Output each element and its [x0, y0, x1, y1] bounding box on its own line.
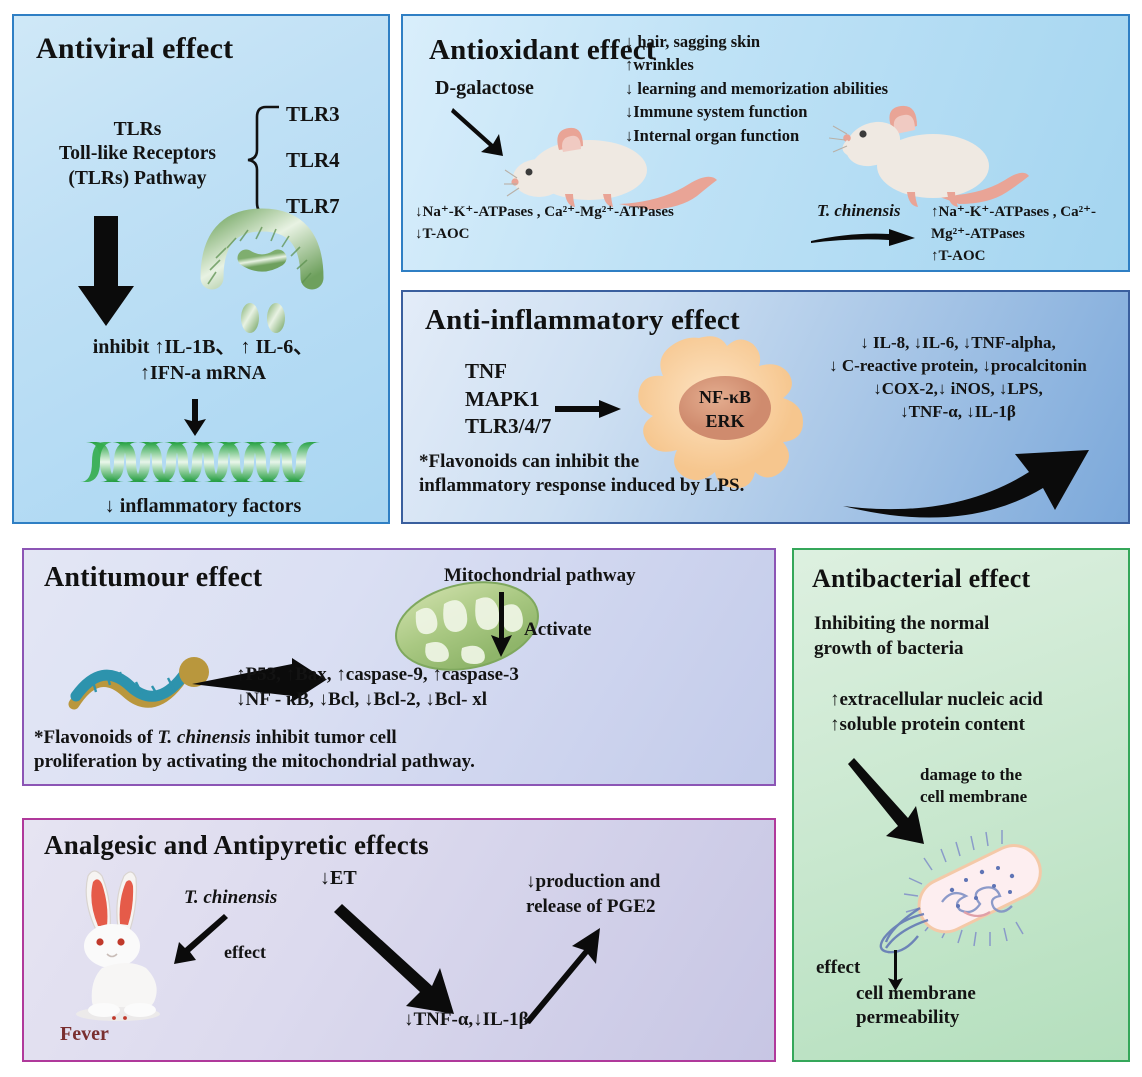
tlr-pathway-line2: Toll-like Receptors — [30, 142, 245, 166]
panel-anti-inflammatory-effect: Anti-inflammatory effect TNF MAPK1 TLR3/… — [401, 290, 1130, 524]
antioxidant-treatment-label: T. chinensis — [817, 201, 900, 222]
effect-arrow-icon — [174, 916, 230, 968]
activate-label: Activate — [524, 618, 592, 641]
panel-antitumour-effect: Antitumour effect — [22, 548, 776, 786]
stimulus-0: TNF — [465, 358, 551, 386]
note-text-a: *Flavonoids of — [34, 727, 158, 748]
rabbit-illustration — [62, 868, 192, 1026]
aging-sign-2: ↓ learning and memorization abilities — [625, 77, 888, 100]
marker-3: ↓TNF-α, ↓IL-1β — [793, 401, 1123, 424]
note-text-b: inhibit tumor cell — [251, 727, 397, 748]
aging-sign-0: ↓ hair, sagging skin — [625, 30, 888, 53]
pge2-label: ↓production and release of PGE2 — [526, 870, 660, 919]
note-line-1: *Flavonoids can inhibit the — [419, 450, 744, 474]
stimuli-arrow-icon — [555, 398, 623, 420]
analgesic-title: Analgesic and Antipyretic effects — [44, 830, 429, 861]
pge2-line-1: ↓production and — [526, 870, 660, 895]
antioxidant-aging-signs: ↓ hair, sagging skin ↑wrinkles ↓ learnin… — [625, 30, 888, 147]
d-galactose-label: D-galactose — [435, 76, 534, 100]
fever-label: Fever — [60, 1022, 109, 1046]
analgesic-species-label: T. chinensis — [184, 886, 277, 909]
diagonal-up-arrow-icon — [518, 928, 608, 1024]
anti-inflammatory-note: *Flavonoids can inhibit the inflammatory… — [419, 450, 744, 498]
antitumour-note: *Flavonoids of T. chinensis inhibit tumo… — [34, 726, 475, 774]
antitumour-title: Antitumour effect — [44, 562, 262, 594]
tlr-pathway-line1: TLRs — [30, 118, 245, 142]
inhibit-line-1: inhibit ↑IL-1B、 ↑ IL-6、 — [28, 334, 378, 360]
down-arrow-icon — [76, 216, 136, 328]
antitumour-note-line-1: *Flavonoids of T. chinensis inhibit tumo… — [34, 726, 475, 750]
permeability-line-1: cell membrane — [856, 982, 976, 1006]
after-line-1: ↑Na⁺-K⁺-ATPases , Ca²⁺-Mg²⁺-ATPases — [931, 202, 1128, 246]
marker-1: ↓ C-reactive protein, ↓procalcitonin — [793, 355, 1123, 378]
antiviral-inhibit-text: inhibit ↑IL-1B、 ↑ IL-6、 ↑IFN-a mRNA — [28, 334, 378, 386]
tlr-receptor-0: TLR3 — [286, 104, 340, 125]
panel-antiviral-effect: Antiviral effect TLRs Toll-like Receptor… — [12, 14, 390, 524]
aging-sign-4: ↓Internal organ function — [625, 124, 888, 147]
d-galactose-arrow-icon — [451, 106, 511, 158]
tlr-group: TLRs Toll-like Receptors (TLRs) Pathway … — [24, 104, 384, 219]
increase-line-1: ↑extracellular nucleic acid — [830, 688, 1043, 713]
antioxidant-before-values: ↓Na⁺-K⁺-ATPases , Ca²⁺-Mg²⁺-ATPases ↓T-A… — [415, 202, 674, 246]
before-line-1: ↓Na⁺-K⁺-ATPases , Ca²⁺-Mg²⁺-ATPases — [415, 202, 674, 224]
tumour-marker-line-1: ↑P53, ↑Bax, ↑caspase-9, ↑caspase-3 — [236, 662, 519, 687]
antibacterial-permeability-label: cell membrane permeability — [856, 982, 976, 1031]
inflammatory-stimuli-list: TNF MAPK1 TLR3/4/7 — [465, 358, 551, 441]
tlr-pathway-label: TLRs Toll-like Receptors (TLRs) Pathway — [30, 118, 245, 191]
tumour-marker-line-2: ↓NF - κB, ↓Bcl, ↓Bcl-2, ↓Bcl- xl — [236, 687, 519, 712]
curly-brace-icon — [246, 104, 280, 216]
marker-2: ↓COX-2,↓ iNOS, ↓LPS, — [793, 378, 1123, 401]
bacterium-illustration — [872, 828, 1102, 968]
analgesic-cytokines-label: ↓TNF-α,↓IL-1β — [404, 1008, 529, 1031]
small-down-arrow-icon — [182, 399, 208, 437]
tlr-receptor-1: TLR4 — [286, 150, 340, 171]
marker-0: ↓ IL-8, ↓IL-6, ↓TNF-alpha, — [793, 332, 1123, 355]
treatment-arrow-icon — [811, 228, 917, 248]
note-line-2: inflammatory response induced by LPS. — [419, 474, 744, 498]
tlr-pathway-line3: (TLRs) Pathway — [30, 167, 245, 191]
mitochondrion-illustration — [392, 578, 542, 674]
inhibit-line-2: ↑IFN-a mRNA — [28, 360, 378, 386]
antioxidant-title: Antioxidant effect — [429, 34, 656, 67]
nucleus-label-nfkb: NF-κB — [699, 387, 751, 407]
tlr-receptor-protein-illustration — [192, 206, 332, 336]
nucleus-label-erk: ERK — [705, 411, 744, 431]
diagonal-down-arrow-icon — [340, 902, 470, 1018]
aging-sign-1: ↑wrinkles — [625, 53, 888, 76]
antibacterial-effect-label: effect — [816, 956, 860, 979]
increase-line-2: ↑soluble protein content — [830, 713, 1043, 738]
pge2-line-2: release of PGE2 — [526, 895, 660, 920]
permeability-line-2: permeability — [856, 1006, 976, 1030]
antiviral-outcome: ↓ inflammatory factors — [28, 494, 378, 518]
activate-arrow-icon — [490, 592, 516, 658]
dna-helix-illustration — [86, 436, 318, 488]
et-label: ↓ET — [320, 866, 357, 890]
inhibit-growth-line-1: Inhibiting the normal — [814, 612, 989, 637]
inflammatory-marker-list: ↓ IL-8, ↓IL-6, ↓TNF-alpha, ↓ C-reactive … — [793, 332, 1123, 424]
curved-thick-arrow-icon — [843, 432, 1093, 512]
antioxidant-after-values: ↑Na⁺-K⁺-ATPases , Ca²⁺-Mg²⁺-ATPases ↑T-A… — [931, 202, 1128, 267]
antitumour-note-line-2: proliferation by activating the mitochon… — [34, 750, 475, 774]
antitumour-marker-list: ↑P53, ↑Bax, ↑caspase-9, ↑caspase-3 ↓NF -… — [236, 662, 519, 712]
before-line-2: ↓T-AOC — [415, 224, 674, 246]
antibacterial-increase-text: ↑extracellular nucleic acid ↑soluble pro… — [830, 688, 1043, 737]
antibacterial-inhibit-text: Inhibiting the normal growth of bacteria — [814, 612, 989, 661]
after-line-2: ↑T-AOC — [931, 246, 1128, 268]
analgesic-effect-label: effect — [224, 942, 266, 964]
stimulus-2: TLR3/4/7 — [465, 413, 551, 441]
antiviral-title: Antiviral effect — [36, 32, 233, 66]
mitochondrial-pathway-label: Mitochondrial pathway — [444, 564, 636, 587]
stimulus-1: MAPK1 — [465, 386, 551, 414]
aging-sign-3: ↓Immune system function — [625, 100, 888, 123]
panel-analgesic-antipyretic-effects: Analgesic and Antipyretic effects T. chi… — [22, 818, 776, 1062]
inhibit-growth-line-2: growth of bacteria — [814, 637, 989, 662]
panel-antioxidant-effect: Antioxidant effect D-galactose — [401, 14, 1130, 272]
panel-antibacterial-effect: Antibacterial effect Inhibiting the norm… — [792, 548, 1130, 1062]
note-species: T. chinensis — [158, 727, 251, 748]
antibacterial-title: Antibacterial effect — [812, 564, 1030, 594]
